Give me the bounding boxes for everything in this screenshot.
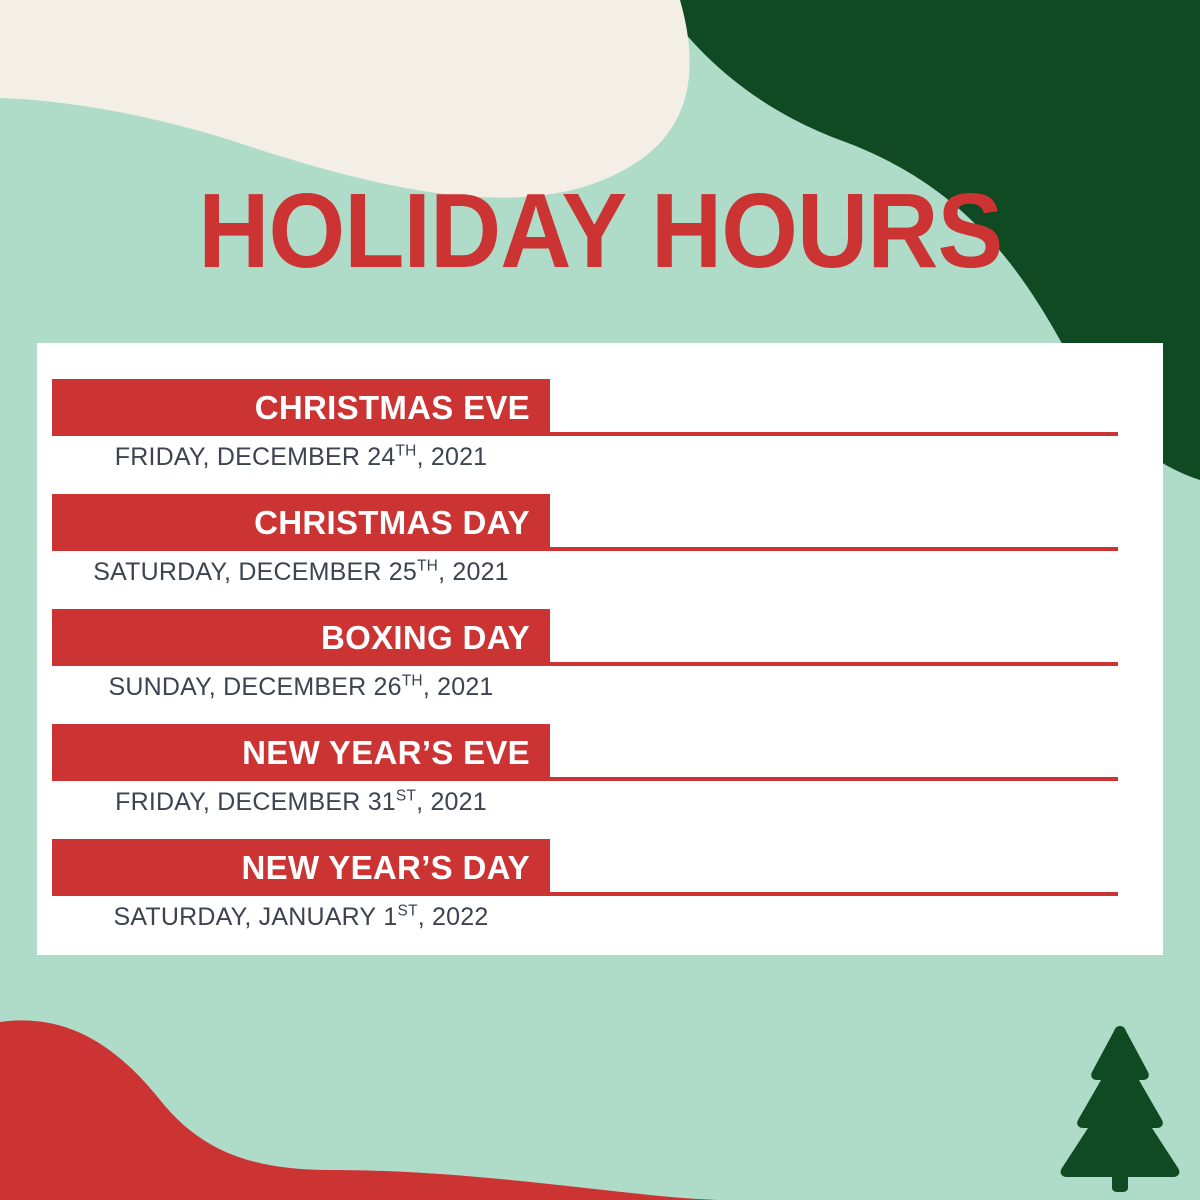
- hours-write-in-rule[interactable]: [550, 777, 1118, 781]
- date-weekday: SATURDAY,: [114, 903, 252, 931]
- hours-write-in-rule[interactable]: [550, 892, 1118, 896]
- date-weekday: FRIDAY,: [115, 788, 210, 816]
- schedule-row: CHRISTMAS EVE FRIDAY, DECEMBER 24TH, 202…: [37, 379, 1163, 494]
- date-year: 2021: [430, 788, 486, 816]
- title-container: HOLIDAY HOURS: [0, 178, 1200, 284]
- date-weekday: SUNDAY,: [108, 673, 215, 701]
- schedule-row: NEW YEAR’S DAY SATURDAY, JANUARY 1ST, 20…: [37, 839, 1163, 954]
- date-year: 2022: [432, 903, 488, 931]
- date-ordinal: ST: [396, 788, 416, 805]
- date-ordinal: TH: [396, 443, 417, 460]
- holiday-date: SUNDAY, DECEMBER 26TH, 2021: [52, 669, 550, 707]
- holiday-name: CHRISTMAS EVE: [255, 391, 530, 424]
- date-month: DECEMBER: [217, 788, 360, 816]
- date-month: DECEMBER: [217, 443, 360, 471]
- hours-write-in-rule[interactable]: [550, 547, 1118, 551]
- date-year: 2021: [437, 673, 493, 701]
- date-ordinal: TH: [417, 558, 438, 575]
- holiday-date: SATURDAY, DECEMBER 25TH, 2021: [52, 554, 550, 592]
- date-ordinal: ST: [398, 903, 418, 920]
- date-weekday: SATURDAY,: [93, 558, 231, 586]
- date-month: DECEMBER: [223, 673, 366, 701]
- date-month: JANUARY: [259, 903, 377, 931]
- schedule-card: CHRISTMAS EVE FRIDAY, DECEMBER 24TH, 202…: [37, 343, 1163, 955]
- holiday-hours-poster: HOLIDAY HOURS CHRISTMAS EVE FRIDAY, DECE…: [0, 0, 1200, 1200]
- hours-write-in-rule[interactable]: [550, 432, 1118, 436]
- holiday-banner: NEW YEAR’S EVE: [52, 724, 550, 781]
- date-day: 31: [368, 788, 396, 816]
- hours-write-in-rule[interactable]: [550, 662, 1118, 666]
- schedule-row: NEW YEAR’S EVE FRIDAY, DECEMBER 31ST, 20…: [37, 724, 1163, 839]
- holiday-name: CHRISTMAS DAY: [254, 506, 530, 539]
- christmas-tree-icon: [1056, 1022, 1184, 1192]
- schedule-rows: CHRISTMAS EVE FRIDAY, DECEMBER 24TH, 202…: [37, 343, 1163, 955]
- date-month: DECEMBER: [238, 558, 381, 586]
- date-weekday: FRIDAY,: [115, 443, 210, 471]
- holiday-banner: BOXING DAY: [52, 609, 550, 666]
- holiday-name: NEW YEAR’S DAY: [242, 851, 530, 884]
- holiday-date: SATURDAY, JANUARY 1ST, 2022: [52, 899, 550, 937]
- date-year: 2021: [452, 558, 508, 586]
- date-day: 1: [383, 903, 397, 931]
- date-day: 26: [374, 673, 402, 701]
- holiday-banner: CHRISTMAS EVE: [52, 379, 550, 436]
- date-day: 24: [367, 443, 395, 471]
- holiday-banner: NEW YEAR’S DAY: [52, 839, 550, 896]
- holiday-date: FRIDAY, DECEMBER 31ST, 2021: [52, 784, 550, 822]
- holiday-name: BOXING DAY: [321, 621, 530, 654]
- holiday-banner: CHRISTMAS DAY: [52, 494, 550, 551]
- date-day: 25: [389, 558, 417, 586]
- schedule-row: CHRISTMAS DAY SATURDAY, DECEMBER 25TH, 2…: [37, 494, 1163, 609]
- date-year: 2021: [431, 443, 487, 471]
- page-title: HOLIDAY HOURS: [198, 178, 1002, 284]
- schedule-row: BOXING DAY SUNDAY, DECEMBER 26TH, 2021: [37, 609, 1163, 724]
- date-ordinal: TH: [402, 673, 423, 690]
- holiday-date: FRIDAY, DECEMBER 24TH, 2021: [52, 439, 550, 477]
- holiday-name: NEW YEAR’S EVE: [242, 736, 530, 769]
